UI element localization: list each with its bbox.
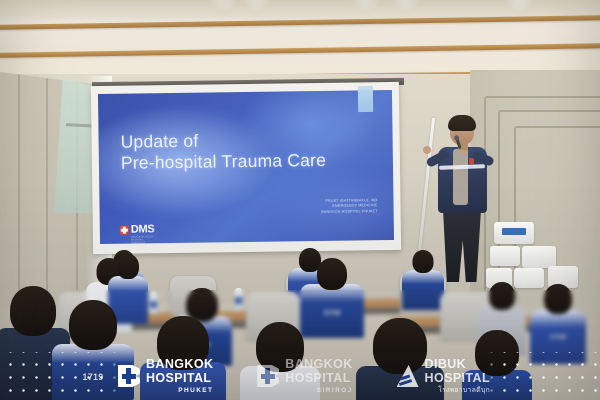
person-head (69, 300, 117, 350)
logo-dibuk-hospital[interactable]: DIBUK HOSPITAL โรงพยาบาลดีบุก (397, 358, 490, 395)
dms-subtext: BANGKOK DUSIT MEDICAL SERVICES (131, 235, 155, 244)
bangkok-hospital-b-cross-icon (118, 365, 140, 387)
presenter-legs (443, 210, 481, 282)
logo-bangkok-hospital-siriroj[interactable]: BANGKOK HOSPITAL SIRIROJ (257, 358, 352, 394)
projection-screen: Update of Pre-hospital Trauma Care PRUET… (91, 82, 401, 254)
person-head (117, 254, 139, 279)
presenter-left-hand (423, 146, 431, 154)
screenshot-root: Update of Pre-hospital Trauma Care PRUET… (0, 0, 600, 400)
footer-logo-band: BANGKOK HOSPITAL PHUKET BANGKOK HOSPITAL… (0, 352, 600, 400)
presenter-shirt (453, 149, 468, 205)
dibuk-hospital-triangle-icon (397, 365, 419, 387)
byline-institution: BANGKOK HOSPITAL PHUKET (321, 209, 377, 215)
footer-logos: BANGKOK HOSPITAL PHUKET BANGKOK HOSPITAL… (118, 352, 490, 400)
logo-line3-thai: โรงพยาบาลดีบุก (425, 387, 490, 394)
slide-title: Update of Pre-hospital Trauma Care (120, 129, 326, 174)
logo-line2: HOSPITAL (285, 372, 352, 385)
screen-light-patch (358, 86, 373, 112)
logo-wordmark: DIBUK HOSPITAL โรงพยาบาลดีบุก (425, 358, 490, 395)
logo-wordmark: BANGKOK HOSPITAL SIRIROJ (285, 358, 352, 394)
equipment-box (490, 246, 520, 266)
dms-cross-icon (120, 226, 129, 235)
logo-line1: BANGKOK (285, 358, 352, 371)
logo-line1: DIBUK (425, 358, 490, 371)
person-head (10, 286, 56, 336)
bangkok-hospital-b-cross-icon (257, 365, 279, 387)
logo-bangkok-hospital-phuket[interactable]: BANGKOK HOSPITAL PHUKET (118, 358, 213, 394)
person-head (413, 250, 434, 273)
presenter-hair (448, 115, 476, 131)
dms-wordmark: DMS (131, 224, 155, 235)
wall-panel-line (46, 72, 48, 307)
ceiling-trim (0, 43, 600, 58)
person-head (317, 258, 347, 290)
ceiling (0, 0, 600, 78)
logo-line3: PHUKET (146, 388, 213, 395)
logo-wordmark: BANGKOK HOSPITAL PHUKET (146, 358, 213, 394)
equipment-label (502, 228, 526, 235)
equipment-box (522, 246, 556, 268)
logo-line2: HOSPITAL (146, 372, 213, 385)
dms-logo: DMS BANGKOK DUSIT MEDICAL SERVICES (120, 224, 155, 235)
logo-line2: HOSPITAL (425, 372, 490, 385)
logo-line3: SIRIROJ (285, 388, 352, 395)
slide-byline: PRUET IGATTANBAKUL, MD EMERGENCY MEDICIN… (321, 198, 378, 215)
presentation-slide: Update of Pre-hospital Trauma Care PRUET… (98, 90, 394, 244)
wall-panel-line (18, 72, 20, 307)
logo-line1: BANGKOK (146, 358, 213, 371)
